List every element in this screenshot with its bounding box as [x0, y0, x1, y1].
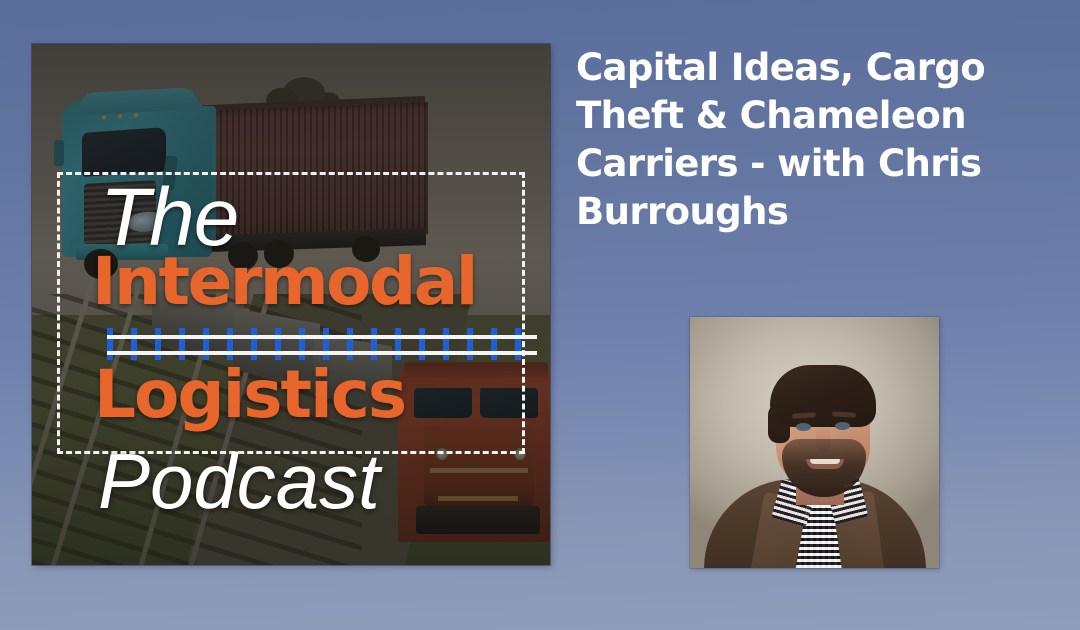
guest-teeth — [810, 459, 840, 464]
divider-rail-top — [107, 335, 537, 339]
logo-word-logistics: Logistics — [94, 362, 405, 428]
podcast-artwork[interactable]: The Intermodal Logistics Podcast — [32, 44, 550, 565]
logo-word-podcast: Podcast — [98, 442, 380, 520]
episode-title: Capital Ideas, Cargo Theft & Chameleon C… — [576, 44, 1050, 236]
guest-headshot[interactable] — [690, 317, 939, 568]
guest-hair — [770, 365, 876, 427]
podcast-logo: The Intermodal Logistics Podcast — [32, 44, 550, 565]
guest-eye-right — [835, 422, 850, 430]
divider-rail-bottom — [107, 351, 537, 355]
logo-word-intermodal: Intermodal — [92, 249, 476, 315]
guest-eye-left — [796, 423, 811, 431]
